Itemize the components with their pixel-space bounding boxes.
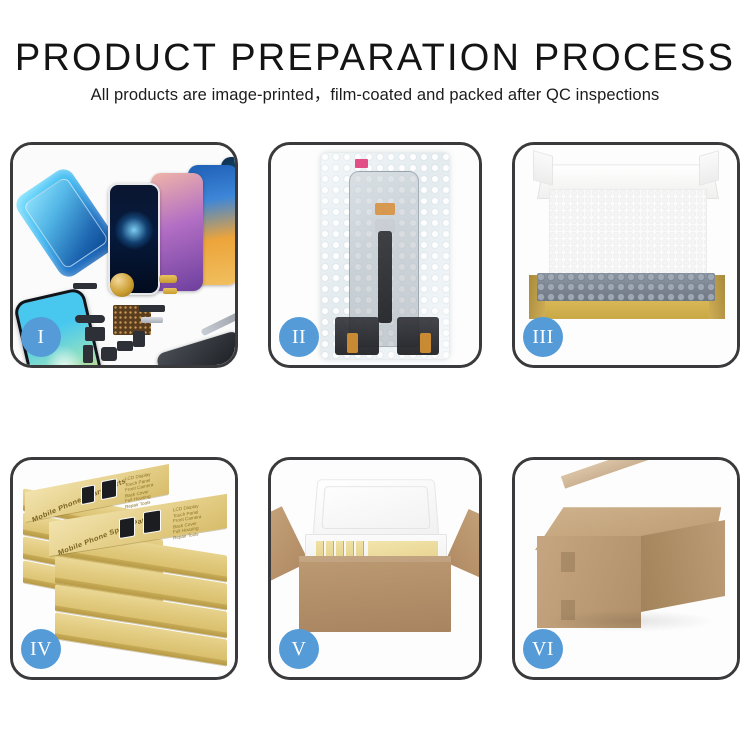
box-checklist-front: LCD Display Touch Panel Front Camera Bac… (173, 501, 213, 541)
part-camera (83, 345, 93, 363)
part-battery-conn (133, 331, 145, 347)
step-panel-4: Mobile Phone Spare Parts LCD Display Tou… (10, 457, 238, 680)
retail-box-stack: Mobile Phone Spare Parts LCD Display Tou… (19, 474, 231, 654)
box-art-screen-a1 (81, 484, 95, 505)
step-panel-1: I (10, 142, 238, 368)
product-preparation-infographic: PRODUCT PREPARATION PROCESS All products… (0, 0, 750, 750)
carton-body (299, 556, 451, 632)
foam-sheet (549, 189, 707, 279)
carton-side-face (641, 520, 725, 612)
box-flap-left (533, 150, 553, 186)
part-strip (73, 283, 97, 289)
step-panel-3: III (512, 142, 740, 368)
box-art-screen-a2 (101, 478, 117, 500)
bubble-wrapped-contents (537, 273, 715, 301)
part-flex-gold-b (163, 288, 177, 294)
part-cable-b (139, 305, 165, 312)
box-flap-right (699, 150, 719, 186)
part-buzzer (101, 347, 117, 361)
bottom-component-right (397, 317, 439, 355)
box-art-screen-b2 (143, 509, 161, 534)
bubble-wrap-pouch (321, 153, 449, 359)
box-art-screen-b1 (119, 516, 135, 539)
speaker-coil-part (110, 273, 134, 297)
step-badge-2: II (279, 317, 319, 357)
orange-tape (375, 203, 395, 215)
part-flex-gold-a (159, 275, 177, 283)
step-panel-6: VI (512, 457, 740, 680)
styrofoam-lid (313, 479, 440, 537)
part-bracket (141, 317, 163, 323)
step-badge-3: III (523, 317, 563, 357)
flex-cable (378, 231, 392, 323)
gold-pin-right (420, 333, 431, 353)
step-badge-5: V (279, 629, 319, 669)
steps-grid: I II (0, 0, 750, 750)
part-cable-a (75, 315, 105, 323)
step-badge-1: I (21, 317, 61, 357)
step-panel-5: V (268, 457, 482, 680)
step-badge-6: VI (523, 629, 563, 669)
step-panel-2: II (268, 142, 482, 368)
pink-label-sticker (355, 159, 368, 168)
carton-shadow (545, 610, 715, 632)
part-block-a (85, 327, 105, 341)
packing-tape (561, 460, 690, 489)
step-badge-4: IV (21, 629, 61, 669)
part-block-b (117, 341, 133, 351)
carton-tab-upper (561, 552, 575, 572)
gold-pin-left (347, 333, 358, 353)
